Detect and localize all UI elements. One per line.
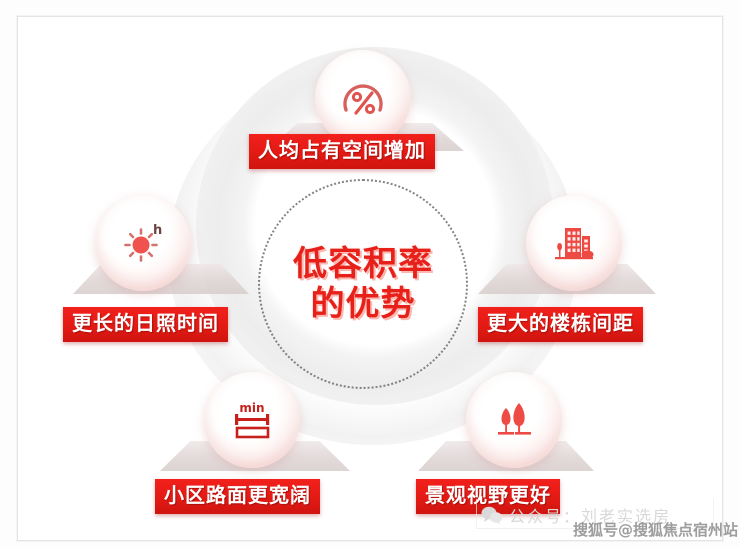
watermark-sohu: 搜狐号@搜狐焦点宿州站 (573, 519, 738, 540)
center-title-line2: 的优势 (311, 285, 416, 323)
node-right-bubble[interactable] (526, 195, 622, 291)
percent-gauge-icon (337, 72, 389, 124)
center-title-line1: 低容积率 (293, 245, 433, 283)
node-left-bubble[interactable]: h (95, 195, 191, 291)
road-width-min-icon-text: min (239, 401, 264, 415)
infographic-canvas: 低容积率 的优势 人均占有空间增加 (0, 0, 740, 547)
buildings-spacing-icon (548, 217, 600, 269)
road-width-min-icon: min (226, 394, 278, 446)
node-top-bubble[interactable] (315, 50, 411, 146)
node-left-label[interactable]: 更长的日照时间 (63, 307, 228, 342)
wechat-icon (481, 506, 503, 524)
center-title: 低容积率 的优势 (258, 179, 468, 389)
node-right-label[interactable]: 更大的楼栋间距 (478, 307, 643, 342)
sun-hours-icon-text: h (153, 223, 162, 238)
infographic-content: 低容积率 的优势 人均占有空间增加 (18, 17, 722, 523)
node-bottom-right-bubble[interactable] (466, 372, 562, 468)
node-bottom-left-bubble[interactable]: min (204, 372, 300, 468)
node-bottom-left-label[interactable]: 小区路面更宽阔 (155, 479, 320, 514)
trees-landscape-icon (488, 394, 540, 446)
sun-hours-icon: h (117, 217, 169, 269)
node-top-label[interactable]: 人均占有空间增加 (249, 134, 435, 169)
